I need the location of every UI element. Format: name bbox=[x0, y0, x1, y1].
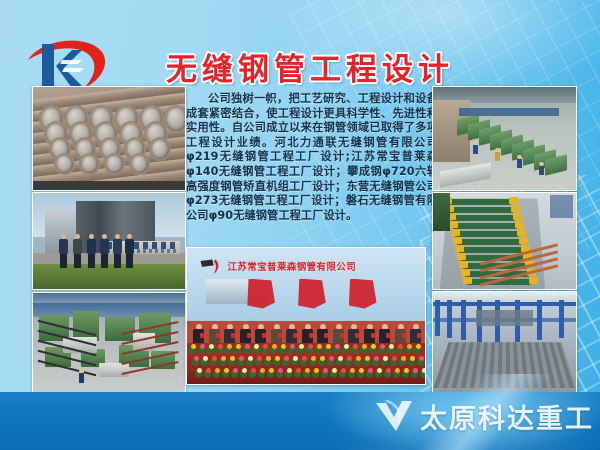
ceremony-banner-company: 江苏常宝普莱森钢管有限公司 bbox=[227, 259, 356, 273]
photo-steel-pipe-stack: 堆放的无缝钢管 bbox=[32, 86, 186, 191]
photo-opening-ceremony: 江苏常宝普莱森钢管有限公司 江苏常宝普莱森钢管有限公司 bbox=[186, 247, 426, 385]
photo-rolling-line-top-view: 轧管机组俯视 bbox=[432, 192, 577, 290]
kd-watermark-logo bbox=[374, 399, 414, 433]
page-title: 无缝钢管工程设计 bbox=[130, 44, 490, 88]
watermark: 太原科达重工 bbox=[374, 396, 594, 436]
changbao-logo-icon bbox=[197, 258, 223, 277]
body-paragraph: 公司独树一帜，把工艺研究、工程设计和设备成套紧密结合，使工程设计更具科学性、先进… bbox=[186, 92, 438, 223]
page-title-text: 无缝钢管工程设计 bbox=[166, 44, 454, 89]
watermark-text: 太原科达重工 bbox=[420, 397, 594, 436]
photo-staff-at-factory-gate: 河北力通联无缝钢管厂区 bbox=[32, 192, 186, 290]
photo-equipment-assembly-hall: 设备装配车间 bbox=[432, 86, 577, 191]
poster-page: 无缝钢管工程设计 公司独树一帜，把工艺研究、工程设计和设备成套紧密结合，使工程设… bbox=[0, 0, 600, 450]
photo-production-line-overview: 钢管生产线 bbox=[32, 292, 186, 394]
